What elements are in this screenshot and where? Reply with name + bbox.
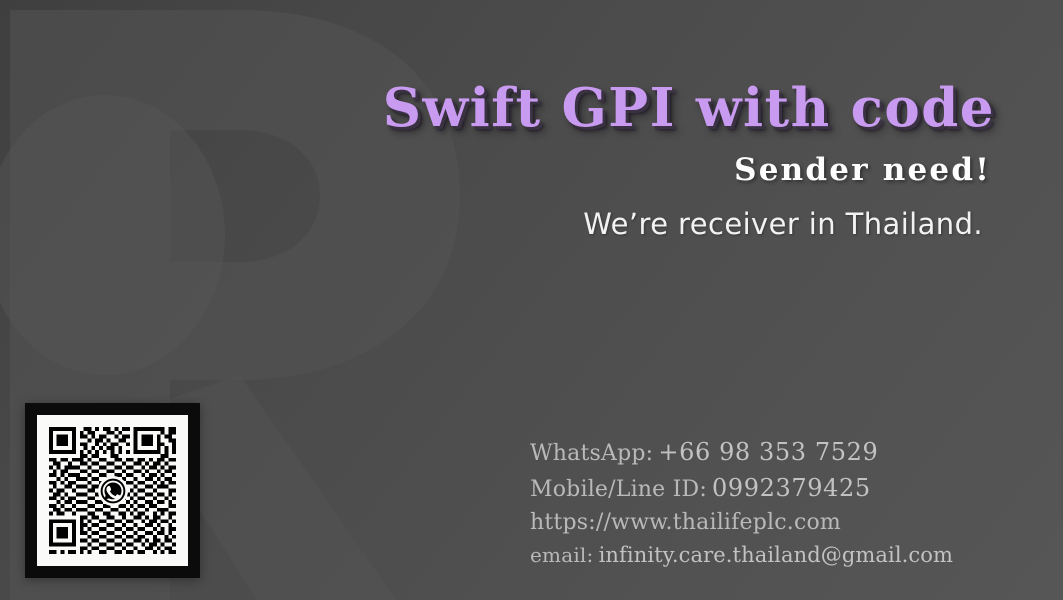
qr-code-quiet-zone xyxy=(37,415,188,566)
whatsapp-number[interactable]: +66 98 353 7529 xyxy=(658,438,878,466)
tagline: We’re receiver in Thailand. xyxy=(583,210,983,239)
email-label: email: xyxy=(530,543,593,567)
subtitle: Sender need! xyxy=(734,155,991,186)
contact-line-email: email: infinity.care.thailand@gmail.com xyxy=(530,545,1000,566)
qr-code-frame[interactable] xyxy=(25,403,200,578)
business-card-banner: Swift GPI with code Sender need! We’re r… xyxy=(0,0,1063,600)
contact-info-block: WhatsApp: +66 98 353 7529 Mobile/Line ID… xyxy=(530,440,1000,566)
contact-line-website[interactable]: https://www.thailifeplc.com xyxy=(530,512,1000,534)
mobile-line-id-label: Mobile/Line ID: xyxy=(530,477,707,502)
website-url[interactable]: https://www.thailifeplc.com xyxy=(530,510,841,535)
contact-line-mobile: Mobile/Line ID: 0992379425 xyxy=(530,476,1000,501)
email-address[interactable]: infinity.care.thailand@gmail.com xyxy=(599,543,954,567)
whatsapp-label: WhatsApp: xyxy=(530,441,653,466)
whatsapp-icon xyxy=(98,476,128,506)
page-title: Swift GPI with code xyxy=(383,82,995,135)
contact-line-whatsapp: WhatsApp: +66 98 353 7529 xyxy=(530,440,1000,465)
mobile-line-id-value[interactable]: 0992379425 xyxy=(712,474,871,502)
